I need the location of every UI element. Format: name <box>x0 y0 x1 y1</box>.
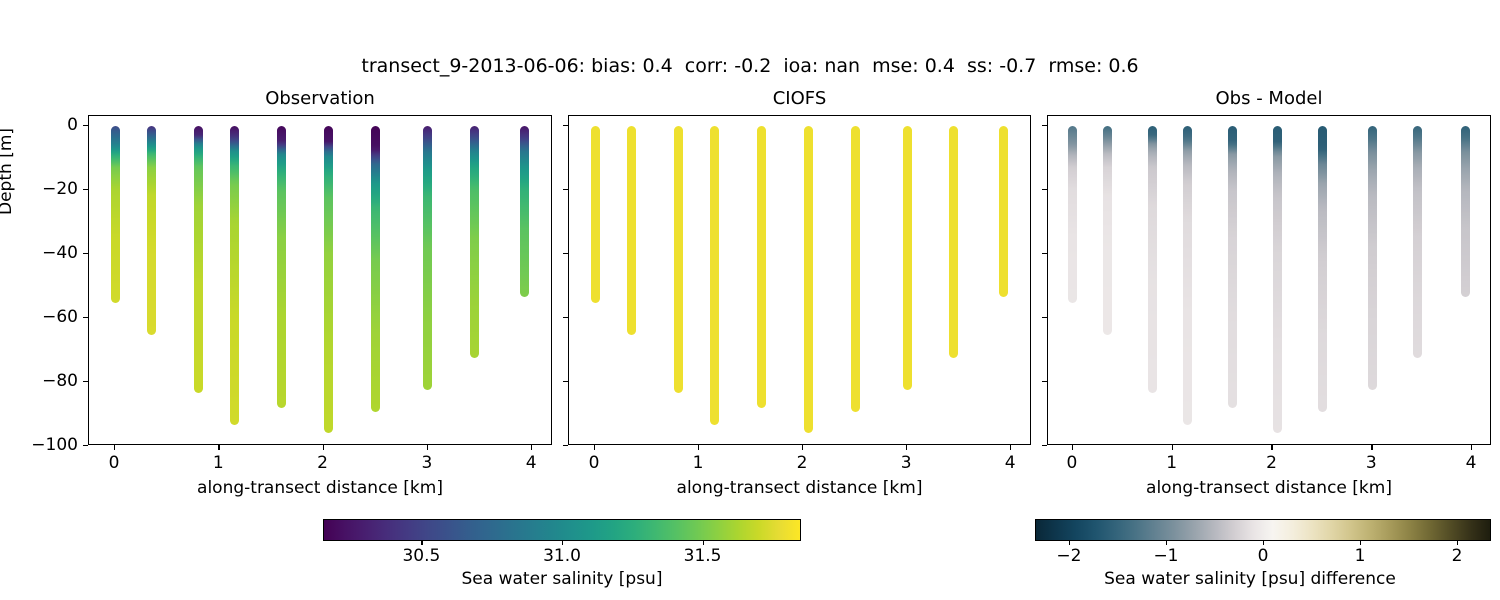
x-axis-label-obs-minus-model: along-transect distance [km] <box>1047 478 1491 498</box>
figure: transect_9-2013-06-06: bias: 0.4 corr: -… <box>0 0 1500 600</box>
ctd-cast-profile <box>423 126 432 390</box>
ctd-cast-profile <box>277 126 286 408</box>
colorbar-label-salinity-difference: Sea water salinity [psu] difference <box>1000 569 1500 589</box>
ctd-cast-profile <box>1148 126 1157 394</box>
x-tick-mark <box>698 445 699 450</box>
x-axis-label-ciofs: along-transect distance [km] <box>568 478 1031 498</box>
colorbar-tick-mark <box>1360 541 1361 545</box>
y-tick-mark <box>1042 125 1047 126</box>
ctd-cast-profile <box>1318 126 1327 413</box>
y-tick-mark <box>83 381 88 382</box>
colorbar-tick-mark <box>1263 541 1264 545</box>
ctd-cast-profile <box>470 126 479 358</box>
x-tick-mark <box>531 445 532 450</box>
ctd-cast-profile <box>949 126 958 358</box>
colorbar-tick-label: −2 <box>1039 546 1099 566</box>
axes-obs-minus-model <box>1047 115 1491 445</box>
ctd-cast-profile <box>520 126 529 297</box>
y-tick-mark <box>563 381 568 382</box>
y-tick-mark <box>563 445 568 446</box>
colorbar-tick-mark <box>1457 541 1458 545</box>
x-tick-mark <box>1072 445 1073 450</box>
x-tick-label: 4 <box>990 453 1030 473</box>
x-tick-mark <box>114 445 115 450</box>
colorbar-tick-label: 31.5 <box>673 546 733 566</box>
x-tick-mark <box>323 445 324 450</box>
ctd-cast-profile <box>324 126 333 434</box>
x-tick-label: 2 <box>303 453 343 473</box>
x-tick-mark <box>427 445 428 450</box>
y-tick-label: 0 <box>12 115 78 135</box>
x-tick-mark <box>218 445 219 450</box>
panel-title-ciofs: CIOFS <box>568 88 1031 112</box>
ctd-cast-profile <box>1368 126 1377 390</box>
x-tick-mark <box>1371 445 1372 450</box>
x-tick-label: 1 <box>678 453 718 473</box>
y-tick-mark <box>563 253 568 254</box>
x-tick-label: 1 <box>1152 453 1192 473</box>
ctd-cast-profile <box>851 126 860 413</box>
x-tick-mark <box>906 445 907 450</box>
x-tick-label: 3 <box>407 453 447 473</box>
ctd-cast-profile <box>804 126 813 434</box>
colorbar-tick-mark <box>1069 541 1070 545</box>
x-tick-mark <box>1471 445 1472 450</box>
y-axis-label: Depth [m] <box>0 128 16 215</box>
panel-title-observation: Observation <box>88 88 552 112</box>
suptitle-line-1: transect_9-2013-06-06: bias: 0.4 corr: -… <box>0 54 1500 79</box>
ctd-cast-profile <box>194 126 203 394</box>
y-tick-label: −60 <box>12 307 78 327</box>
y-tick-mark <box>1042 317 1047 318</box>
ctd-cast-profile <box>1273 126 1282 434</box>
ctd-cast-profile <box>999 126 1008 297</box>
colorbar-tick-mark <box>562 541 563 545</box>
y-tick-mark <box>563 125 568 126</box>
y-tick-label: −40 <box>12 243 78 263</box>
y-tick-mark <box>1042 381 1047 382</box>
y-tick-mark <box>83 253 88 254</box>
y-tick-mark <box>83 125 88 126</box>
ctd-cast-profile <box>757 126 766 408</box>
colorbar-tick-label: 0 <box>1233 546 1293 566</box>
ctd-cast-profile <box>230 126 239 426</box>
ctd-cast-profile <box>111 126 120 304</box>
x-axis-label-observation: along-transect distance [km] <box>88 478 552 498</box>
x-tick-label: 0 <box>1052 453 1092 473</box>
y-tick-mark <box>83 445 88 446</box>
y-tick-mark <box>1042 189 1047 190</box>
y-tick-mark <box>1042 445 1047 446</box>
ctd-cast-profile <box>710 126 719 426</box>
ctd-cast-profile <box>1228 126 1237 408</box>
x-tick-mark <box>1271 445 1272 450</box>
axes-observation <box>88 115 552 445</box>
ctd-cast-profile <box>1461 126 1470 297</box>
colorbar-tick-label: 31.0 <box>532 546 592 566</box>
ctd-cast-profile <box>371 126 380 413</box>
y-tick-label: −100 <box>12 435 78 455</box>
y-tick-mark <box>1042 253 1047 254</box>
x-tick-label: 1 <box>198 453 238 473</box>
x-tick-label: 4 <box>511 453 551 473</box>
x-tick-label: 3 <box>886 453 926 473</box>
ctd-cast-profile <box>1068 126 1077 304</box>
panel-title-obs-minus-model: Obs - Model <box>1047 88 1491 112</box>
ctd-cast-profile <box>147 126 156 336</box>
x-tick-label: 4 <box>1451 453 1491 473</box>
x-tick-label: 3 <box>1351 453 1391 473</box>
ctd-cast-profile <box>1183 126 1192 426</box>
ctd-cast-profile <box>1413 126 1422 358</box>
colorbar-salinity <box>323 519 801 541</box>
y-tick-label: −20 <box>12 179 78 199</box>
colorbar-tick-label: 30.5 <box>391 546 451 566</box>
colorbar-tick-mark <box>703 541 704 545</box>
axes-ciofs <box>568 115 1031 445</box>
colorbar-tick-mark <box>1166 541 1167 545</box>
colorbar-salinity-difference <box>1035 519 1491 541</box>
x-tick-label: 2 <box>1251 453 1291 473</box>
y-tick-label: −80 <box>12 371 78 391</box>
x-tick-label: 2 <box>782 453 822 473</box>
y-tick-mark <box>83 189 88 190</box>
x-tick-mark <box>594 445 595 450</box>
x-tick-mark <box>1172 445 1173 450</box>
colorbar-tick-label: 1 <box>1330 546 1390 566</box>
colorbar-tick-label: −1 <box>1136 546 1196 566</box>
ctd-cast-profile <box>674 126 683 394</box>
ctd-cast-profile <box>1103 126 1112 336</box>
x-tick-label: 0 <box>574 453 614 473</box>
y-tick-mark <box>83 317 88 318</box>
ctd-cast-profile <box>627 126 636 336</box>
x-tick-mark <box>802 445 803 450</box>
ctd-cast-profile <box>591 126 600 304</box>
y-tick-mark <box>563 189 568 190</box>
x-tick-label: 0 <box>94 453 134 473</box>
colorbar-label-salinity: Sea water salinity [psu] <box>323 569 801 589</box>
x-tick-mark <box>1010 445 1011 450</box>
ctd-cast-profile <box>903 126 912 390</box>
y-tick-mark <box>563 317 568 318</box>
colorbar-tick-mark <box>421 541 422 545</box>
colorbar-tick-label: 2 <box>1427 546 1487 566</box>
